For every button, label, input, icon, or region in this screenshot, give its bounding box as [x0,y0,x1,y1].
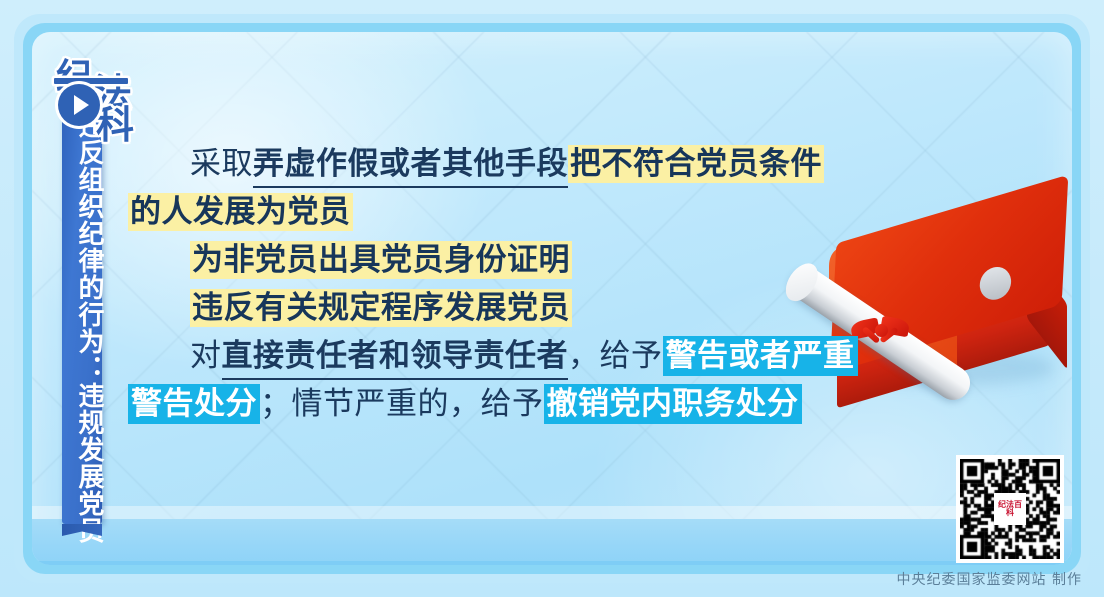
text-segment-underline: 直接责任者和领导责任者 [222,338,569,380]
bottom-band-accent [32,561,1072,565]
regulation-text-block: 采取弄虚作假或者其他手段把不符合党员条件的人发展为党员为非党员出具党员身份证明违… [128,140,818,428]
vertical-title-text: 违反组织纪律的行为：违规发展党员 [62,112,102,524]
logo-char-ke: 科 [96,94,134,149]
red-book-and-scroll-illustration [795,200,1085,430]
qr-center-logo: 纪法百科 [994,493,1026,525]
logo-bar [54,78,128,84]
text-segment-plain: 采取 [190,146,253,182]
regulation-line: 的人发展为党员 [128,188,818,236]
qr-center-logo-text: 纪法百科 [997,501,1023,517]
text-segment-highlight-yellow: 的人发展为党员 [128,193,353,231]
bottom-band-light [32,506,1072,519]
footer-credit: 中央纪委国家监委网站 制作 [897,569,1082,589]
text-segment-highlight-yellow: 把不符合党员条件 [568,145,824,183]
poster-canvas: 纪 法 科 违反组织纪律的行为：违规发展党员 采取弄虚作假或者其他手段把不符合党… [0,0,1104,597]
red-ribbon-bow-icon [851,318,913,348]
regulation-line: 采取弄虚作假或者其他手段把不符合党员条件 [128,140,818,188]
text-segment-highlight-cyan: 撤销党内职务处分 [544,384,802,424]
bottom-band-blue [32,519,1072,565]
vertical-title-banner: 违反组织纪律的行为：违规发展党员 [62,104,102,524]
regulation-line: 警告处分；情节严重的，给予撤销党内职务处分 [128,380,818,428]
brand-logo: 纪 法 科 [56,48,148,128]
qr-code[interactable]: 纪法百科 [956,455,1064,563]
regulation-line: 违反有关规定程序发展党员 [128,284,818,332]
text-segment-plain: 对 [190,338,222,374]
play-button-icon [58,84,100,126]
text-segment-underline: 弄虚作假或者其他手段 [253,146,568,188]
regulation-line: 对直接责任者和领导责任者，给予警告或者严重 [128,332,818,380]
qr-code-canvas: 纪法百科 [960,459,1060,559]
text-segment-highlight-cyan: 警告处分 [128,384,260,424]
text-segment-plain: ；情节严重的，给予 [260,386,544,422]
text-segment-highlight-yellow: 违反有关规定程序发展党员 [190,289,572,327]
regulation-line: 为非党员出具党员身份证明 [128,236,818,284]
text-segment-highlight-cyan: 警告或者严重 [663,336,858,376]
text-segment-plain: ，给予 [568,338,663,374]
text-segment-highlight-yellow: 为非党员出具党员身份证明 [190,241,572,279]
